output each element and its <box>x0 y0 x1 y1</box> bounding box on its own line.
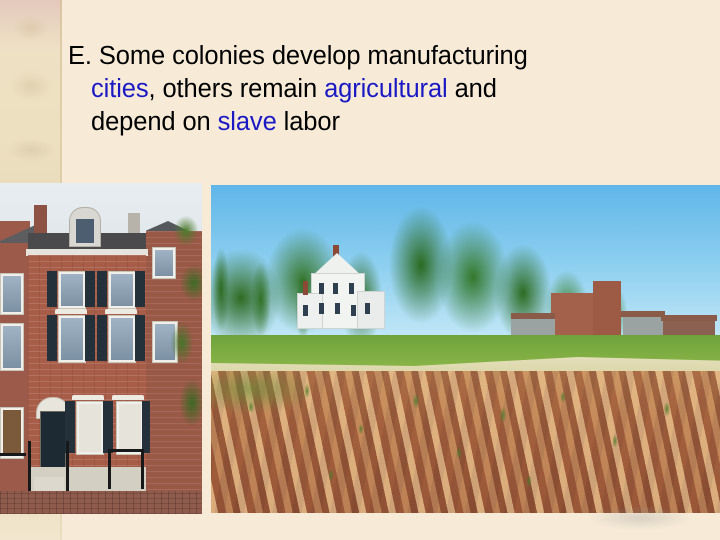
house-window <box>365 303 370 314</box>
photo-brick-rowhouse <box>0 183 202 514</box>
photo-plantation-field <box>211 185 720 513</box>
shed-roof <box>511 313 555 319</box>
title-line-1: E. Some colonies develop manufacturing <box>62 40 702 73</box>
title-line-2-text-b: and <box>448 75 497 103</box>
farm-outbuildings <box>511 281 716 341</box>
house-window <box>303 305 308 316</box>
title-line-3-text-a: depend on <box>91 108 218 136</box>
field-weed-patch <box>211 371 361 441</box>
house-window <box>349 283 354 294</box>
brick-warehouse <box>551 293 599 339</box>
plantation-house <box>297 245 383 327</box>
iron-railing <box>66 441 69 493</box>
iron-railing <box>28 441 31 493</box>
rowhouse-shutter <box>97 315 107 361</box>
rowhouse-shutter <box>47 315 57 361</box>
neighbor-window <box>0 273 24 315</box>
rowhouse-lintel <box>105 309 137 314</box>
slide-canvas: E. Some colonies develop manufacturing c… <box>0 0 720 540</box>
house-side-chimney <box>303 281 308 295</box>
rowhouse-shutter <box>85 271 95 307</box>
rowhouse-shutter <box>135 315 145 361</box>
slide-title: E. Some colonies develop manufacturing c… <box>62 40 702 139</box>
iron-fence <box>141 449 144 489</box>
rowhouse-shutter <box>142 401 150 453</box>
brick-sidewalk <box>0 491 202 514</box>
title-line-3: depend on slave labor <box>62 106 702 139</box>
house-window <box>333 283 338 294</box>
keyword-agricultural: agricultural <box>324 75 448 103</box>
keyword-cities: cities <box>91 75 149 103</box>
house-window <box>319 303 324 314</box>
house-window <box>351 305 356 316</box>
rowhouse-shutter <box>47 271 57 307</box>
title-line-2-text-a: , others remain <box>149 75 325 103</box>
title-line-2: cities, others remain agricultural and <box>62 73 702 106</box>
house-right-wing <box>357 291 385 329</box>
house-window <box>319 283 324 294</box>
shed-roof <box>661 315 717 321</box>
watermark-shadow <box>565 500 715 536</box>
rowhouse-shutter <box>135 271 145 307</box>
brick-tower <box>593 281 621 339</box>
title-line-3-text-b: labor <box>277 108 340 136</box>
shed-roof <box>621 311 665 317</box>
rowhouse-lintel <box>55 309 87 314</box>
rowhouse-shutter <box>103 401 113 453</box>
rowhouse-window <box>58 271 86 309</box>
rowhouse-window <box>108 315 136 363</box>
rowhouse-window <box>108 271 136 309</box>
keyword-slave: slave <box>218 108 277 136</box>
rowhouse-shutter <box>85 315 95 361</box>
neighbor-shopfront <box>0 407 24 459</box>
rowhouse-dormer-window <box>69 207 101 247</box>
neighbor-window <box>0 323 24 371</box>
rowhouse-window <box>58 315 86 363</box>
rowhouse-window <box>76 401 104 455</box>
iron-fence <box>108 449 111 489</box>
house-window <box>335 303 340 314</box>
rowhouse-lintel <box>72 395 104 400</box>
iron-fence <box>0 453 26 456</box>
rowhouse-window <box>116 401 144 455</box>
rowhouse-shutter <box>97 271 107 307</box>
street-tree <box>160 213 202 443</box>
rowhouse-lintel <box>112 395 144 400</box>
iron-fence <box>108 449 144 452</box>
